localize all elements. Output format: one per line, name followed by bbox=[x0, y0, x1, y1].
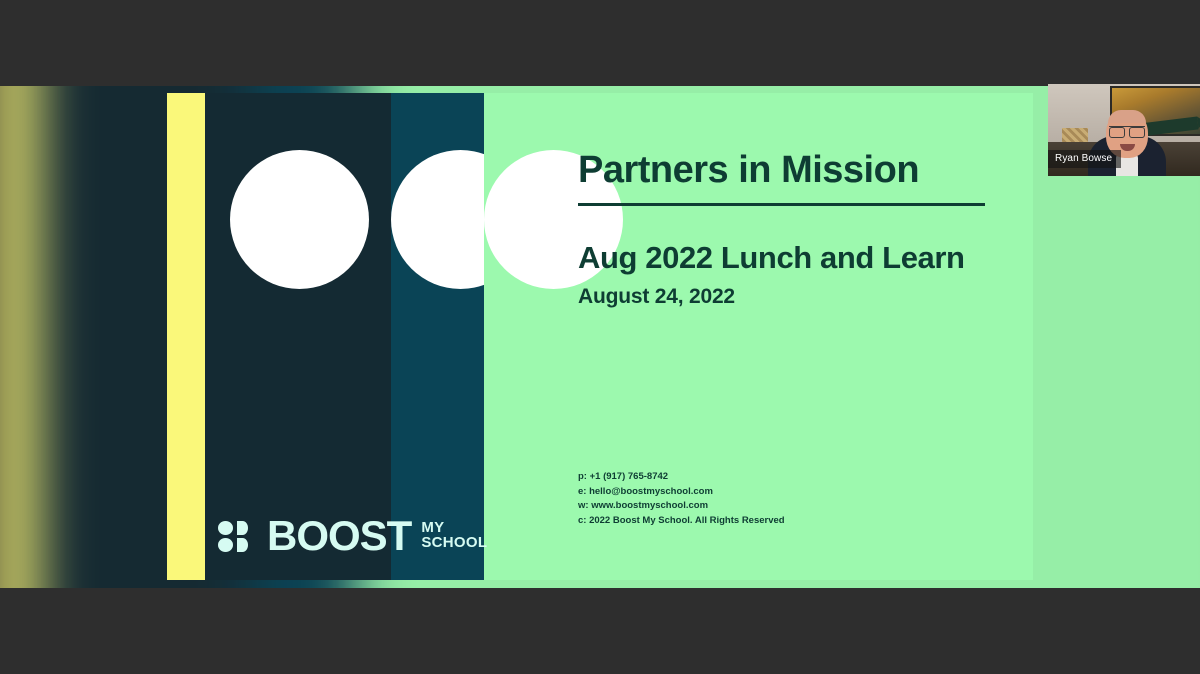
logo-halfdot-bottom-right bbox=[237, 538, 248, 552]
contact-copyright: c: 2022 Boost My School. All Rights Rese… bbox=[578, 514, 785, 529]
video-person-hairline bbox=[1108, 110, 1146, 123]
contact-website: w: www.boostmyschool.com bbox=[578, 499, 785, 514]
backdrop-yellow-band bbox=[0, 0, 38, 674]
logo-halfdot-top-right bbox=[237, 521, 248, 535]
boost-my-school-logo: BOOST MY SCHOOL bbox=[218, 514, 487, 558]
logo-subtext-line1: MY bbox=[421, 520, 487, 535]
letterbox-top bbox=[0, 0, 1200, 86]
decorative-circle-1 bbox=[230, 150, 369, 289]
logo-dot-top-left bbox=[218, 521, 233, 535]
slide-yellow-band bbox=[167, 93, 205, 580]
boost-logo-mark-icon bbox=[218, 521, 254, 552]
contact-email: e: hello@boostmyschool.com bbox=[578, 485, 785, 500]
letterbox-bottom bbox=[0, 588, 1200, 674]
slide-title: Partners in Mission bbox=[578, 151, 1008, 191]
participant-video-tile[interactable]: Ryan Bowse bbox=[1048, 84, 1200, 176]
logo-dot-bottom-left bbox=[218, 538, 233, 552]
logo-wordmark: BOOST bbox=[267, 515, 411, 557]
logo-subtext: MY SCHOOL bbox=[421, 520, 487, 553]
contact-details: p: +1 (917) 765-8742 e: hello@boostmysch… bbox=[578, 470, 785, 529]
presentation-slide[interactable]: Partners in Mission Aug 2022 Lunch and L… bbox=[167, 93, 1033, 580]
circle-clip-navy bbox=[205, 93, 391, 580]
slide-text-block: Partners in Mission Aug 2022 Lunch and L… bbox=[578, 151, 1008, 309]
video-person-glasses bbox=[1109, 126, 1145, 135]
logo-subtext-line2: SCHOOL bbox=[421, 535, 487, 550]
decorative-circle-2-right-half bbox=[391, 150, 484, 289]
circle-clip-teal bbox=[391, 93, 484, 580]
participant-name-label: Ryan Bowse bbox=[1048, 150, 1121, 168]
slide-subtitle: Aug 2022 Lunch and Learn bbox=[578, 240, 1008, 276]
contact-phone: p: +1 (917) 765-8742 bbox=[578, 470, 785, 485]
title-underline bbox=[578, 203, 985, 206]
slide-date: August 24, 2022 bbox=[578, 285, 1008, 309]
